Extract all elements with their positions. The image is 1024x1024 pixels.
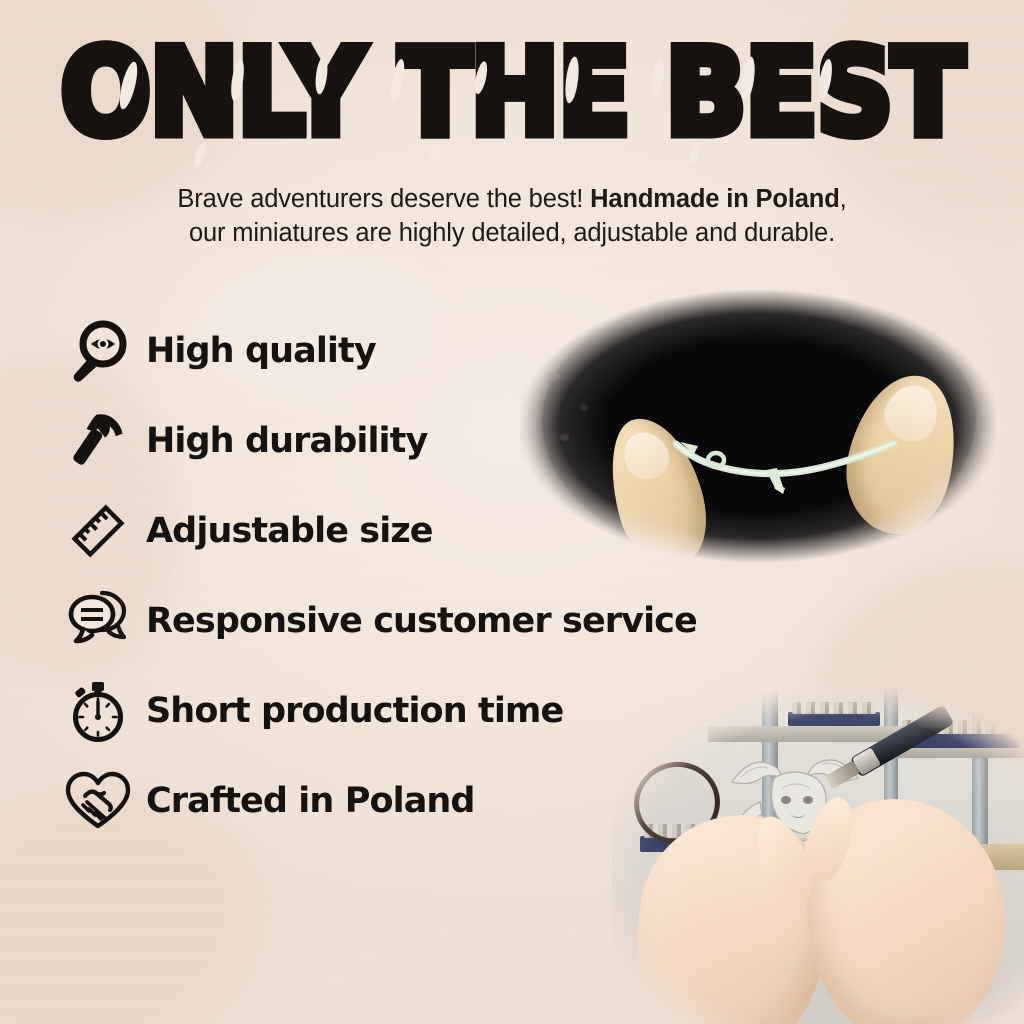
feature-label: High quality (146, 331, 376, 371)
feature-label: Short production time (146, 691, 563, 731)
promo-graphic: ONLY THE BEST Brave adventurers deserve … (0, 0, 1024, 1024)
subtitle-line-2: our miniatures are highly detailed, adju… (189, 219, 835, 247)
feature-label: Crafted in Poland (146, 781, 475, 821)
tray-miniatures (792, 702, 876, 714)
subtitle: Brave adventurers deserve the best! Hand… (90, 182, 934, 250)
photo-workshop-painting (612, 686, 1024, 1024)
mini-tray (788, 712, 880, 726)
feature-label: Responsive customer service (146, 601, 697, 641)
miniature-part (670, 426, 900, 496)
stopwatch-icon (62, 675, 134, 747)
feature-label: High durability (146, 421, 427, 461)
hammer-icon (62, 405, 134, 477)
feature-item-responsive-customer-service: Responsive customer service (62, 576, 762, 666)
heart-handshake-icon (62, 765, 134, 837)
page-title-text: ONLY THE BEST (61, 24, 964, 162)
speech-bubbles-icon (62, 585, 134, 657)
magnifier-eye-icon (62, 315, 134, 387)
subtitle-line-1: Brave adventurers deserve the best! Hand… (177, 185, 846, 213)
page-title: ONLY THE BEST (0, 34, 1024, 153)
ruler-icon (62, 495, 134, 567)
shelf-board (708, 726, 904, 742)
feature-label: Adjustable size (146, 511, 433, 551)
fingernail (616, 424, 677, 486)
photo-flexible-part (520, 276, 996, 576)
